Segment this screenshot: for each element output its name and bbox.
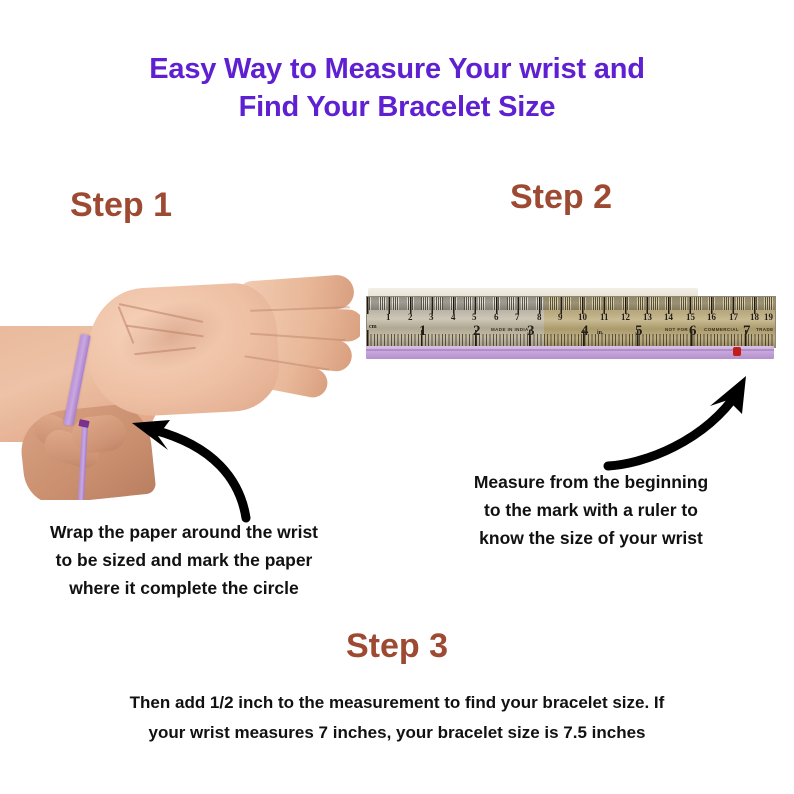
ruler-inch-6: 6	[689, 323, 697, 340]
step-2-curved-arrow-icon	[600, 368, 760, 478]
ruler-cm-6: 6	[494, 312, 499, 322]
ruler-cm-12: 12	[621, 312, 630, 322]
ruler-cm-label: cm	[369, 324, 377, 330]
ruler-stamp-not-for: NOT FOR	[665, 327, 688, 332]
ruler-inch-7: 7	[743, 323, 751, 340]
ruler-stamp-commercial: COMMERCIAL	[704, 327, 739, 332]
ruler-cm-8: 8	[537, 312, 542, 322]
step-1-caption-line-3: where it complete the circle	[4, 574, 364, 602]
ruler-cm-9: 9	[558, 312, 563, 322]
step-2-heading: Step 2	[510, 177, 612, 217]
step-1-caption: Wrap the paper around the wrist to be si…	[4, 518, 364, 602]
title-line-1: Easy Way to Measure Your wrist and	[149, 53, 645, 85]
ruler-inch-4: 4	[581, 323, 589, 340]
measured-paper-strip	[366, 346, 774, 359]
step-1-heading: Step 1	[70, 185, 172, 225]
infographic-canvas: Easy Way to Measure Your wrist and Find …	[0, 0, 794, 794]
step-3-caption-line-2: your wrist measures 7 inches, your brace…	[60, 718, 734, 748]
step-1-caption-line-1: Wrap the paper around the wrist	[4, 518, 364, 546]
ruler-cm-16: 16	[707, 312, 716, 322]
step-2-caption-line-2: to the mark with a ruler to	[404, 496, 778, 524]
step-3-caption-line-1: Then add 1/2 inch to the measurement to …	[60, 688, 734, 718]
ruler-ticks-bottom-major	[367, 330, 775, 347]
ruler-cm-11: 11	[600, 312, 609, 322]
step-3-caption: Then add 1/2 inch to the measurement to …	[60, 688, 734, 748]
ruler-cm-17: 17	[729, 312, 738, 322]
ruler-cm-15: 15	[686, 312, 695, 322]
ruler-cm-19: 19	[764, 312, 773, 322]
step-1-caption-line-2: to be sized and mark the paper	[4, 546, 364, 574]
ruler-cm-7: 7	[515, 312, 520, 322]
step-2-caption-line-1: Measure from the beginning	[404, 468, 778, 496]
ruler-inch-1: 1	[419, 323, 427, 340]
step-2-caption: Measure from the beginning to the mark w…	[404, 468, 778, 552]
step-1-curved-arrow-icon	[118, 406, 268, 526]
measurement-red-mark	[733, 347, 741, 356]
step-2-caption-line-3: know the size of your wrist	[404, 524, 778, 552]
ruler-stamp-trade: TRADE	[756, 327, 774, 332]
ruler-cm-1: 1	[386, 312, 391, 322]
title-line-2: Find Your Bracelet Size	[0, 88, 794, 126]
ruler-cm-13: 13	[643, 312, 652, 322]
ruler-cm-5: 5	[472, 312, 477, 322]
ruler-cm-18: 18	[750, 312, 759, 322]
ruler-cm-4: 4	[451, 312, 456, 322]
measured-paper-strip-fold	[366, 349, 774, 351]
step-3-heading: Step 3	[0, 626, 794, 666]
ruler-stamp-made-in-india: MADE IN INDIA	[491, 327, 529, 332]
ruler-illustration: cm 1 2 3 4 5 6 7 8 9 10 11 12 13 14 15 1…	[364, 278, 778, 368]
ruler-cm-14: 14	[664, 312, 673, 322]
ruler-cm-10: 10	[578, 312, 587, 322]
ruler-inch-5: 5	[635, 323, 643, 340]
page-title: Easy Way to Measure Your wrist and Find …	[0, 50, 794, 126]
ruler-inch-label: in.	[597, 330, 604, 336]
ruler-cm-3: 3	[429, 312, 434, 322]
ruler-cm-2: 2	[408, 312, 413, 322]
ruler-inch-2: 2	[473, 323, 481, 340]
